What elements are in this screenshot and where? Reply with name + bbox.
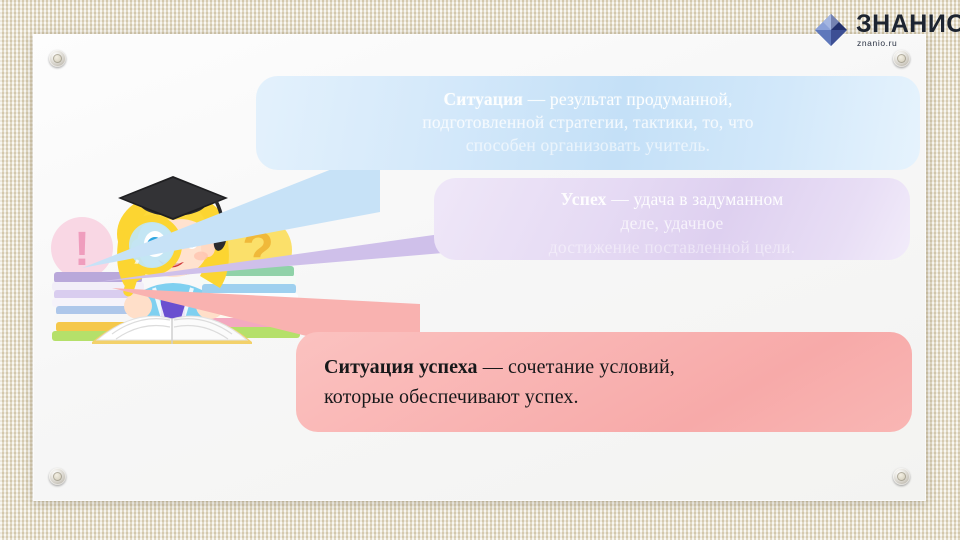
callout-success-situation-lead: Ситуация успеха [324, 356, 478, 378]
callout-success-bubble: Успех — удача в задуманном деле, удачное… [434, 178, 910, 260]
callout-success-line-3: достижение поставленной цели. [454, 235, 890, 259]
callout-success-situation-line-1: Ситуация успеха — сочетание условий, [324, 352, 884, 382]
callout-success-situation: Ситуация успеха — сочетание условий, кот… [296, 332, 912, 432]
callout-success-line-1-rest: — удача в задуманном [607, 189, 784, 209]
callout-situation-line-1-rest: — результат продуманной, [523, 89, 732, 109]
callout-success: Успех — удача в задуманном деле, удачное… [434, 178, 910, 260]
znanio-wordmark: ЗНАНИО znanio.ru [856, 12, 960, 48]
callout-success-lead: Успех [561, 189, 607, 209]
board-screw-bottom-right [893, 468, 910, 485]
board-screw-bottom-left [49, 468, 66, 485]
znanio-brand-text: ЗНАНИО [856, 12, 960, 37]
callout-success-situation-line-1-rest: — сочетание условий, [478, 356, 675, 378]
board-screw-top-right [893, 50, 910, 67]
callout-situation-line-2: подготовленной стратегии, тактики, то, ч… [282, 111, 894, 134]
board-screw-top-left [49, 50, 66, 67]
callout-success-line-2: деле, удачное [454, 211, 890, 235]
callout-situation-line-1: Ситуация — результат продуманной, [282, 88, 894, 111]
znanio-gem-icon [814, 13, 848, 47]
callout-situation-bubble: Ситуация — результат продуманной, подгот… [256, 76, 920, 170]
callout-situation: Ситуация — результат продуманной, подгот… [256, 76, 920, 170]
znanio-watermark: ЗНАНИО znanio.ru [814, 12, 960, 48]
callout-success-situation-bubble: Ситуация успеха — сочетание условий, кот… [296, 332, 912, 432]
callout-success-situation-line-2: которые обеспечивают успех. [324, 382, 884, 412]
callout-situation-lead: Ситуация [443, 89, 523, 109]
callout-situation-line-3: способен организовать учитель. [282, 134, 894, 157]
callout-success-line-1: Успех — удача в задуманном [454, 187, 890, 211]
callout-tail-success [95, 232, 455, 284]
znanio-url-text: znanio.ru [857, 39, 960, 48]
